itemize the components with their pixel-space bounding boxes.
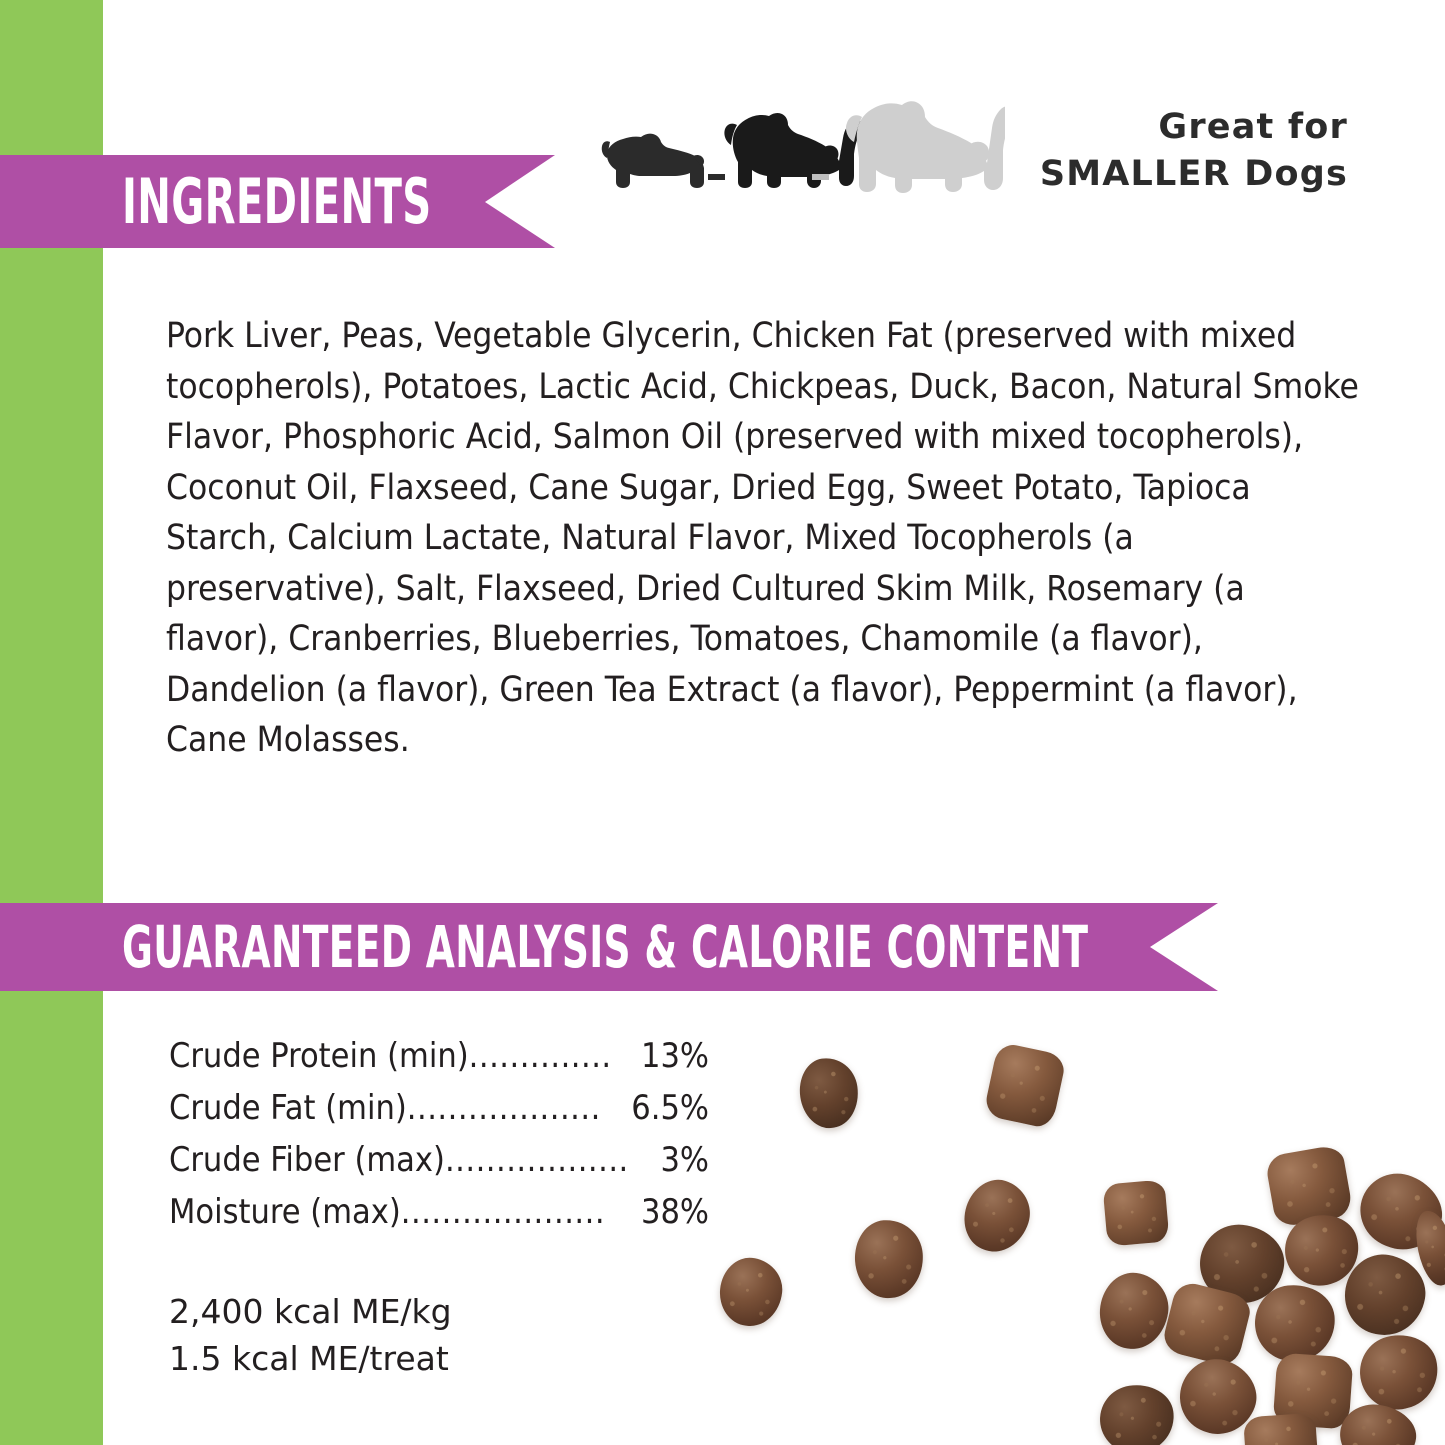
analysis-label: Moisture (max) bbox=[169, 1186, 401, 1238]
ingredients-body-text: Pork Liver, Peas, Vegetable Glycerin, Ch… bbox=[166, 311, 1361, 766]
small-dog-dachshund-silhouette bbox=[602, 134, 704, 188]
kibble-piece bbox=[1243, 1413, 1319, 1445]
product-label-page: Great for SMALLER Dogs INGREDIENTS Pork … bbox=[0, 0, 1445, 1445]
kibble-piece bbox=[717, 1255, 786, 1329]
kibble-piece bbox=[1096, 1380, 1179, 1445]
kibble-piece bbox=[795, 1054, 862, 1131]
analysis-row: Crude Protein (min) .............. 13% bbox=[169, 1030, 709, 1082]
analysis-value: 38% bbox=[641, 1186, 709, 1238]
header-zone: Great for SMALLER Dogs bbox=[585, 78, 1375, 208]
tagline-line-1: Great for bbox=[1040, 104, 1348, 151]
calories-per-treat: 1.5 kcal ME/treat bbox=[169, 1335, 452, 1382]
dog-size-separator-1 bbox=[708, 174, 725, 180]
calories-per-kg: 2,400 kcal ME/kg bbox=[169, 1288, 452, 1335]
analysis-label: Crude Protein (min) bbox=[169, 1030, 469, 1082]
guaranteed-analysis-table: Crude Protein (min) .............. 13% C… bbox=[169, 1030, 709, 1238]
kibble-piece bbox=[1102, 1179, 1169, 1246]
analysis-row: Crude Fiber (max) .................. 3% bbox=[169, 1134, 709, 1186]
analysis-row: Moisture (max) .................... 38% bbox=[169, 1186, 709, 1238]
analysis-value: 6.5% bbox=[631, 1082, 709, 1134]
analysis-dot-leader: ................... bbox=[407, 1082, 632, 1134]
tagline-line-2: SMALLER Dogs bbox=[1040, 151, 1348, 198]
calorie-content-block: 2,400 kcal ME/kg 1.5 kcal ME/treat bbox=[169, 1288, 452, 1382]
analysis-dot-leader: .............. bbox=[469, 1030, 641, 1082]
kibble-piece bbox=[955, 1172, 1038, 1260]
kibble-piece bbox=[983, 1042, 1067, 1130]
kibble-piece bbox=[1264, 1144, 1353, 1228]
kibble-piece bbox=[1095, 1269, 1173, 1354]
analysis-label: Crude Fiber (max) bbox=[169, 1134, 445, 1186]
dog-silhouettes-svg bbox=[585, 78, 1005, 206]
ingredients-banner: INGREDIENTS bbox=[0, 155, 555, 248]
analysis-value: 13% bbox=[641, 1030, 709, 1082]
ribbon-notch-icon bbox=[485, 155, 555, 248]
dog-size-separator-2 bbox=[812, 174, 829, 180]
kibble-piece bbox=[852, 1218, 925, 1301]
medium-dog-beagle-silhouette bbox=[724, 113, 862, 188]
guaranteed-analysis-banner: GUARANTEED ANALYSIS & CALORIE CONTENT bbox=[0, 903, 1218, 991]
dog-size-chart bbox=[585, 78, 1005, 206]
ingredients-banner-title: INGREDIENTS bbox=[122, 155, 431, 248]
analysis-dot-leader: .................... bbox=[401, 1186, 641, 1238]
ribbon-notch-icon bbox=[1150, 903, 1218, 991]
analysis-row: Crude Fat (min) ................... 6.5% bbox=[169, 1082, 709, 1134]
kibble-piece bbox=[1352, 1327, 1445, 1418]
analysis-label: Crude Fat (min) bbox=[169, 1082, 407, 1134]
tagline-great-for-smaller-dogs: Great for SMALLER Dogs bbox=[1040, 104, 1348, 198]
guaranteed-analysis-banner-title: GUARANTEED ANALYSIS & CALORIE CONTENT bbox=[122, 903, 1088, 991]
large-dog-hound-silhouette bbox=[846, 101, 1005, 193]
kibble-photo bbox=[700, 1030, 1445, 1445]
analysis-dot-leader: .................. bbox=[445, 1134, 661, 1186]
